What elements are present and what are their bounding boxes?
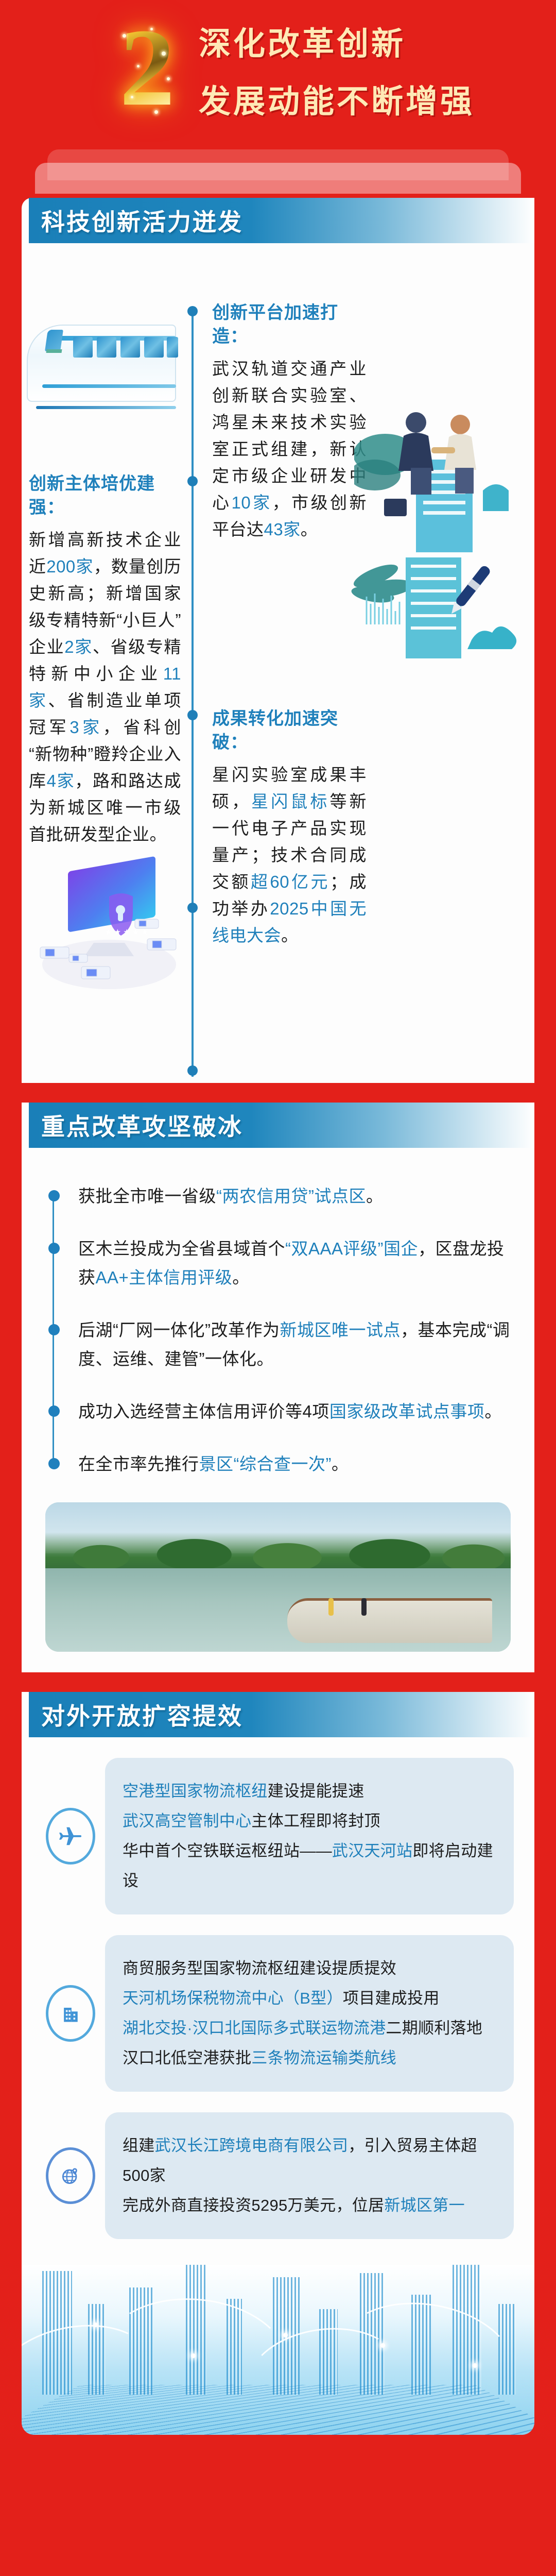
contract-pen-illustration: [349, 557, 519, 702]
high-speed-train-icon: [27, 305, 181, 413]
card-line: 商贸服务型国家物流枢纽建设提质提效: [123, 1954, 496, 1984]
section-key-reform: 重点改革攻坚破冰 获批全市唯一省级“两农信用贷”试点区。 区木兰投成为全省县域首…: [22, 1103, 534, 1672]
timeline-dot: [187, 476, 198, 486]
tech-innovation-content: 创新平台加速打造： 武汉轨道交通产业创新联合实验室、鸿星未来技术实验室正式组建，…: [22, 243, 534, 1067]
infographic-poster: 2 深化改革创新 发展动能不断增强 科技创新活力迸发: [0, 0, 556, 2576]
list-item: 区木兰投成为全省县域首个“双AAA评级”国企，区盘龙投获AA+主体信用评级。: [78, 1234, 514, 1292]
opening-card-cross-border: 组建武汉长江跨境电商有限公司，引入贸易主体超500家 完成外商直接投资5295万…: [42, 2112, 514, 2239]
timeline-dot: [187, 903, 198, 913]
bullet-dot-icon: [48, 1405, 60, 1417]
bullet-dot-icon: [48, 1458, 60, 1469]
card-line: 组建武汉长江跨境电商有限公司，引入贸易主体超500家: [123, 2131, 496, 2191]
opening-card-body: 组建武汉长江跨境电商有限公司，引入贸易主体超500家 完成外商直接投资5295万…: [105, 2112, 514, 2239]
card-line: 完成外商直接投资5295万美元，位居新城区第一: [123, 2191, 496, 2221]
business-handshake-illustration: [354, 398, 519, 552]
bullet-text: 后湖“厂网一体化”改革作为新城区唯一试点，基本完成“调度、运维、建管”一体化。: [78, 1316, 514, 1374]
timeline-dot: [187, 710, 198, 720]
section-title-key-reform: 重点改革攻坚破冰: [41, 1108, 243, 1142]
svg-text:★ ★ ★ ★ ★: ★ ★ ★ ★ ★: [105, 928, 148, 937]
bullet-dot-icon: [48, 1324, 60, 1335]
section-tech-innovation: 科技创新活力迸发: [22, 198, 534, 1083]
list-item: 获批全市唯一省级“两农信用贷”试点区。: [78, 1182, 514, 1211]
key-reform-bullet-list: 获批全市唯一省级“两农信用贷”试点区。 区木兰投成为全省县域首个“双AAA评级”…: [45, 1182, 514, 1479]
section-title-tech-innovation: 科技创新活力迸发: [41, 204, 243, 238]
bullet-text: 在全市率先推行景区“综合查一次”。: [78, 1450, 514, 1479]
opening-card-air-logistics: 空港型国家物流枢纽建设提能提速 武汉高空管制中心主体工程即将封顶 华中首个空铁联…: [42, 1758, 514, 1914]
section-bar-tech-innovation: 科技创新活力迸发: [29, 198, 534, 243]
footer-red-band: [0, 2435, 556, 2484]
bullet-text: 成功入选经营主体信用评价等4项国家级改革试点事项。: [78, 1397, 514, 1426]
card-line: 汉口北低空港获批三条物流运输类航线: [123, 2043, 496, 2073]
card-line: 空港型国家物流枢纽建设提能提速: [123, 1776, 496, 1806]
lake-scenery-photo: [45, 1502, 511, 1652]
poster-header: 2 深化改革创新 发展动能不断增强: [0, 0, 556, 149]
panel-shadow-inner: [35, 163, 521, 194]
section-title-opening-up: 对外开放扩容提效: [41, 1698, 243, 1732]
block-title-innovation-subject: 创新主体培优建强：: [29, 472, 181, 519]
block-innovation-platform: 创新平台加速打造： 武汉轨道交通产业创新联合实验室、鸿星未来技术实验室正式组建，…: [212, 301, 367, 543]
timeline-dot: [187, 1065, 198, 1076]
card-line: 湖北交投·汉口北国际多式联运物流港二期顺利落地: [123, 2013, 496, 2043]
card-line: 华中首个空铁联运枢纽站——武汉天河站即将启动建设: [123, 1836, 496, 1896]
section-bar-opening-up: 对外开放扩容提效: [29, 1692, 534, 1737]
globe-pin-icon: [42, 2147, 99, 2204]
bullet-text: 获批全市唯一省级“两农信用贷”试点区。: [78, 1182, 514, 1211]
header-title-line1: 深化改革创新: [199, 15, 475, 73]
card-line: 天河机场保税物流中心（B型）项目建成投用: [123, 1984, 496, 2013]
block-body-result-transfer: 星闪实验室成果丰硕，星闪鼠标等新一代电子产品实现量产；技术合同成交额超60亿元；…: [212, 761, 367, 949]
list-item: 成功入选经营主体信用评价等4项国家级改革试点事项。: [78, 1397, 514, 1426]
header-title-line2: 发展动能不断增强: [199, 73, 475, 131]
opening-card-body: 空港型国家物流枢纽建设提能提速 武汉高空管制中心主体工程即将封顶 华中首个空铁联…: [105, 1758, 514, 1914]
timeline-dot: [187, 306, 198, 316]
section-bar-key-reform: 重点改革攻坚破冰: [29, 1103, 534, 1148]
header-titles: 深化改革创新 发展动能不断增强: [199, 15, 475, 131]
building-icon: [42, 1985, 99, 2042]
list-item: 后湖“厂网一体化”改革作为新城区唯一试点，基本完成“调度、运维、建管”一体化。: [78, 1316, 514, 1374]
bullet-dot-icon: [48, 1190, 60, 1201]
section-number-badge: 2: [101, 9, 194, 128]
timeline-rail: [192, 309, 194, 1077]
city-skyline-network-graphic: [22, 2265, 534, 2435]
airplane-icon: [42, 1808, 99, 1865]
list-item: 在全市率先推行景区“综合查一次”。: [78, 1450, 514, 1479]
bullet-dot-icon: [48, 1243, 60, 1254]
bullet-text: 区木兰投成为全省县域首个“双AAA评级”国企，区盘龙投获AA+主体信用评级。: [78, 1234, 514, 1292]
block-body-innovation-subject: 新增高新技术企业近200家，数量创历史新高；新增国家级专精特新“小巨人”企业2家…: [29, 527, 181, 848]
block-result-transfer: 成果转化加速突破： 星闪实验室成果丰硕，星闪鼠标等新一代电子产品实现量产；技术合…: [212, 707, 367, 949]
secure-computer-illustration: ★ ★ ★ ★ ★: [32, 856, 186, 1001]
section-number: 2: [101, 9, 194, 128]
block-innovation-subject: 创新主体培优建强： 新增高新技术企业近200家，数量创历史新高；新增国家级专精特…: [29, 472, 181, 848]
opening-card-body: 商贸服务型国家物流枢纽建设提质提效 天河机场保税物流中心（B型）项目建成投用 湖…: [105, 1935, 514, 2092]
panel-stack-decoration: [0, 149, 556, 178]
card-line: 武汉高空管制中心主体工程即将封顶: [123, 1806, 496, 1836]
section-opening-up: 对外开放扩容提效 空港型国家物流枢纽建设提能提速 武汉高空管制中心主体工程即将封…: [22, 1692, 534, 2265]
opening-card-trade-logistics: 商贸服务型国家物流枢纽建设提质提效 天河机场保税物流中心（B型）项目建成投用 湖…: [42, 1935, 514, 2092]
block-title-result-transfer: 成果转化加速突破：: [212, 707, 367, 754]
block-title-innovation-platform: 创新平台加速打造：: [212, 301, 367, 348]
block-body-innovation-platform: 武汉轨道交通产业创新联合实验室、鸿星未来技术实验室正式组建，新认定市级企业研发中…: [212, 355, 367, 543]
